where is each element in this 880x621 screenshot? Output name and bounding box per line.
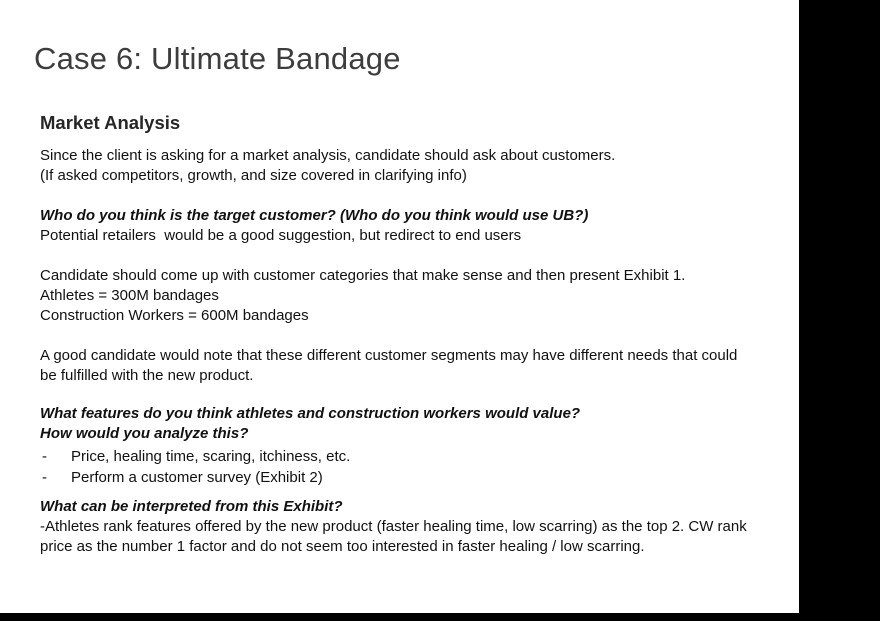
- list-item-label: Price, healing time, scaring, itchiness,…: [71, 448, 350, 465]
- question-target-customer: Who do you think is the target customer?…: [40, 206, 755, 226]
- question-exhibit-interpretation: What can be interpreted from this Exhibi…: [40, 497, 755, 517]
- spacer: [40, 186, 755, 206]
- list-item-label: Perform a customer survey (Exhibit 2): [71, 469, 323, 486]
- categories-lead-in: Candidate should come up with customer c…: [40, 266, 755, 286]
- slide-surface: Case 6: Ultimate Bandage Market Analysis…: [0, 0, 799, 613]
- slide-body: Market Analysis Since the client is aski…: [40, 112, 755, 557]
- viewer-background-bottom: [0, 613, 812, 621]
- analysis-bullet-list: - Price, healing time, scaring, itchines…: [40, 446, 755, 488]
- spacer: [40, 326, 755, 346]
- slide-title: Case 6: Ultimate Bandage: [34, 42, 401, 76]
- dash-bullet-icon: -: [42, 446, 47, 467]
- question-features-valued: What features do you think athletes and …: [40, 404, 755, 424]
- intro-line-2: (If asked competitors, growth, and size …: [40, 166, 755, 186]
- exhibit-interpretation-text: -Athletes rank features offered by the n…: [40, 517, 755, 557]
- section-heading-market-analysis: Market Analysis: [40, 112, 755, 134]
- viewer-background-right: [799, 3, 880, 621]
- category-athletes: Athletes = 300M bandages: [40, 286, 755, 306]
- list-item: - Perform a customer survey (Exhibit 2): [40, 467, 755, 488]
- intro-line-1: Since the client is asking for a market …: [40, 146, 755, 166]
- spacer: [40, 246, 755, 266]
- list-item: - Price, healing time, scaring, itchines…: [40, 446, 755, 467]
- customer-segments-note: A good candidate would note that these d…: [40, 346, 755, 386]
- question-how-analyze: How would you analyze this?: [40, 424, 755, 444]
- category-construction-workers: Construction Workers = 600M bandages: [40, 306, 755, 326]
- spacer: [40, 386, 755, 404]
- spacer: [40, 488, 755, 497]
- slide-viewer: Case 6: Ultimate Bandage Market Analysis…: [0, 0, 880, 621]
- answer-target-customer: Potential retailers would be a good sugg…: [40, 226, 755, 246]
- dash-bullet-icon: -: [42, 467, 47, 488]
